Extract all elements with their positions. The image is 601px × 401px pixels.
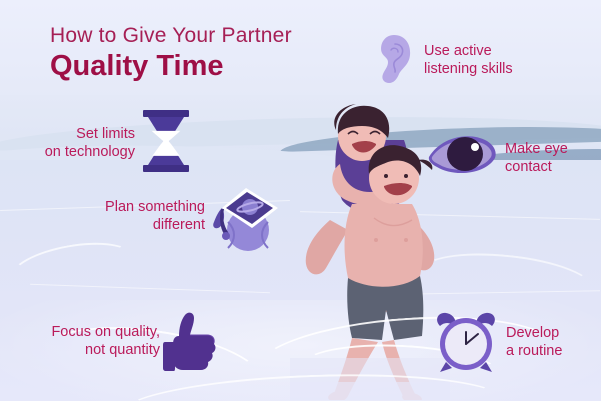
page-title: How to Give Your Partner Quality Time (50, 24, 292, 83)
thumbs-up-icon (163, 312, 219, 374)
title-line-2: Quality Time (50, 50, 292, 83)
graduation-cap-and-ball-icon (212, 186, 284, 252)
tip-label-focus-quality: Focus on quality, not quantity (15, 324, 160, 359)
eye-icon (427, 131, 499, 179)
alarm-clock-icon (430, 310, 502, 376)
tip-label-develop-routine: Develop a routine (506, 325, 562, 360)
hourglass-icon (143, 110, 189, 172)
tip-label-plan-different: Plan something different (60, 199, 205, 234)
tip-label-set-limits: Set limits on technology (10, 126, 135, 161)
tip-label-eye-contact: Make eye contact (505, 141, 568, 176)
title-line-1: How to Give Your Partner (50, 24, 292, 48)
infographic-poster: How to Give Your Partner Quality Time Us… (0, 0, 601, 401)
tip-label-active-listening: Use active listening skills (424, 43, 513, 78)
ear-icon (378, 34, 412, 84)
